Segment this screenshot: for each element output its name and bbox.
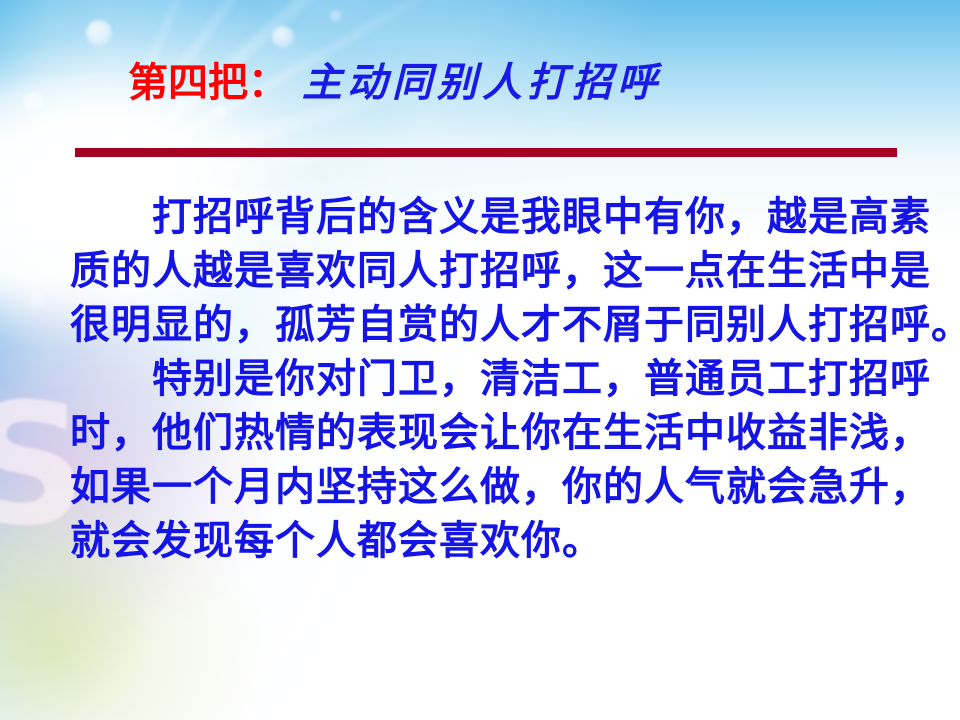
body-line: 如果一个月内坚持这么做，你的人气就会急升， xyxy=(70,460,880,514)
body-text-block: 打招呼背后的含义是我眼中有你，越是高素质的人越是喜欢同人打招呼，这一点在生活中是… xyxy=(70,190,880,568)
slide-title: 第四把：主动同别人打招呼 xyxy=(128,63,662,103)
title-divider-rule xyxy=(75,148,897,157)
body-line: 打招呼背后的含义是我眼中有你，越是高素 xyxy=(70,190,880,244)
body-line: 特别是你对门卫，清洁工，普通员工打招呼 xyxy=(70,352,880,406)
title-main-text: 主动同别人打招呼 xyxy=(302,59,662,106)
body-line: 质的人越是喜欢同人打招呼，这一点在生活中是 xyxy=(70,244,880,298)
body-paragraph: 打招呼背后的含义是我眼中有你，越是高素质的人越是喜欢同人打招呼，这一点在生活中是… xyxy=(70,190,880,352)
body-paragraph: 特别是你对门卫，清洁工，普通员工打招呼时，他们热情的表现会让你在生活中收益非浅，… xyxy=(70,352,880,568)
title-prefix-text: 第四把： xyxy=(128,60,288,106)
slide-canvas: S 第四把：主动同别人打招呼 打招呼背后的含义是我眼中有你，越是高素质的人越是喜… xyxy=(0,0,960,720)
body-line: 时，他们热情的表现会让你在生活中收益非浅， xyxy=(70,406,880,460)
body-line: 很明显的，孤芳自赏的人才不屑于同别人打招呼。 xyxy=(70,298,880,352)
slide-content: 第四把：主动同别人打招呼 打招呼背后的含义是我眼中有你，越是高素质的人越是喜欢同… xyxy=(0,0,960,720)
body-line: 就会发现每个人都会喜欢你。 xyxy=(70,514,880,568)
